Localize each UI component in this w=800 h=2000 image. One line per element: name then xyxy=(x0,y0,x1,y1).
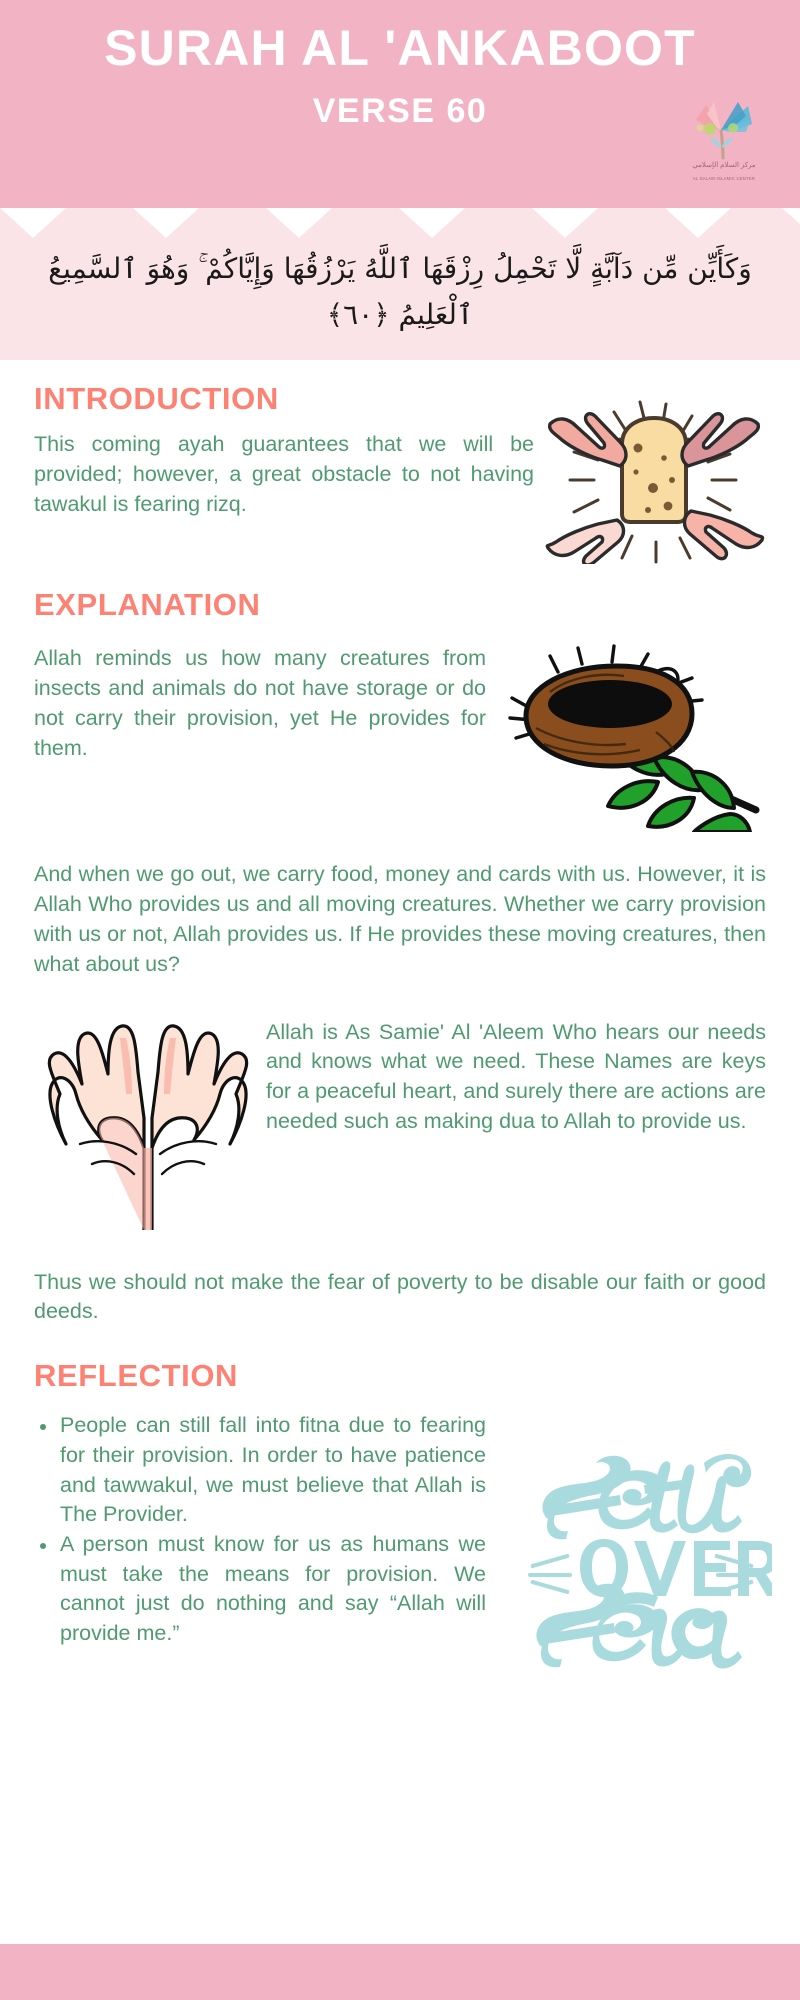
ayah-arabic-text: وَكَأَيِّن مِّن دَآبَّةٍ لَّا تَحْمِلُ ر… xyxy=(0,246,800,338)
flower-logo-icon: مركز السلام الإسلامي AL SALAM ISLAMIC CE… xyxy=(676,100,772,194)
introduction-heading: INTRODUCTION xyxy=(34,382,534,416)
logo-name-english: AL SALAM ISLAMIC CENTER xyxy=(676,176,772,181)
explanation-first-block: Allah reminds us how many creatures from… xyxy=(34,644,766,834)
reflection-bullet-list: People can still fall into fitna due to … xyxy=(34,1411,486,1648)
list-item: People can still fall into fitna due to … xyxy=(34,1411,486,1530)
explanation-paragraph-3: Allah is As Samie' Al 'Aleem Who hears o… xyxy=(266,1006,766,1138)
introduction-paragraph: This coming ayah guarantees that we will… xyxy=(34,430,534,520)
dua-hands-block: Allah is As Samie' Al 'Aleem Who hears o… xyxy=(34,1006,766,1242)
content-body: INTRODUCTION This coming ayah guarantees… xyxy=(0,382,800,1701)
hands-reaching-bread-icon xyxy=(536,388,772,564)
scallop-divider xyxy=(0,208,800,238)
explanation-paragraph-4: Thus we should not make the fear of pove… xyxy=(34,1268,766,1328)
faith-over-fear-lettering-icon xyxy=(508,1415,772,1683)
introduction-section: INTRODUCTION This coming ayah guarantees… xyxy=(34,382,766,562)
list-item: A person must know for us as humans we m… xyxy=(34,1530,486,1649)
explanation-paragraph-2: And when we go out, we carry food, money… xyxy=(34,860,766,980)
birds-nest-branch-icon xyxy=(506,632,782,832)
reflection-section: People can still fall into fitna due to … xyxy=(34,1411,766,1701)
logo-name-arabic: مركز السلام الإسلامي xyxy=(676,162,772,171)
header-banner: SURAH AL 'ANKABOOT VERSE 60 xyxy=(0,0,800,208)
explanation-paragraph-1: Allah reminds us how many creatures from… xyxy=(34,644,486,764)
footer-bar xyxy=(0,1944,800,2000)
ayah-band: وَكَأَيِّن مِّن دَآبَّةٍ لَّا تَحْمِلُ ر… xyxy=(0,208,800,360)
infographic-page: SURAH AL 'ANKABOOT VERSE 60 xyxy=(0,0,800,2000)
reflection-heading: REFLECTION xyxy=(34,1359,766,1393)
open-dua-hands-icon xyxy=(40,998,256,1230)
page-title: SURAH AL 'ANKABOOT xyxy=(0,22,800,75)
explanation-heading: EXPLANATION xyxy=(34,588,766,622)
